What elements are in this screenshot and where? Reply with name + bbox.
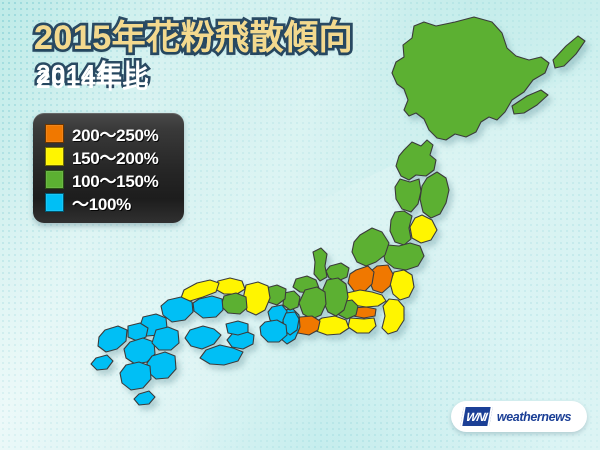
weathernews-wordmark: weathernews <box>497 410 571 424</box>
page-subtitle-fill: 2014年比 <box>36 66 149 93</box>
legend-row-yellow: 150〜200% <box>45 145 174 168</box>
prefecture-region: 宮城 150〜200% <box>410 215 437 243</box>
prefecture-region: 秋田 100〜150% <box>395 179 421 212</box>
wni-mark-icon: WNI <box>460 407 492 426</box>
prefecture-region: 岩手 100〜150% <box>420 172 449 218</box>
pollen-forecast-infographic: 北海道 100〜150%青森 100〜150%岩手 100〜150%秋田 100… <box>0 0 600 450</box>
prefecture-region: 長野 100〜150% <box>323 278 348 316</box>
prefecture-region: 千葉 150〜200% <box>382 299 404 334</box>
legend-swatch-green <box>45 170 64 189</box>
legend-panel: 200〜250%150〜200%100〜150%〜100% <box>33 113 184 223</box>
legend-row-green: 100〜150% <box>45 168 174 191</box>
prefecture-region: 群馬 200〜250% <box>348 266 374 292</box>
prefecture-region: 青森 100〜150% <box>396 140 436 180</box>
legend-swatch-cyan <box>45 193 64 212</box>
prefecture-region: 新潟 100〜150% <box>352 228 389 266</box>
prefecture-region: 兵庫 150〜200% <box>243 282 270 315</box>
prefecture-region: 北海道 100〜150% <box>392 17 585 140</box>
prefecture-region: 宮崎 〜100% <box>147 352 176 379</box>
page-title-fill: 2015年花粉飛散傾向 <box>34 21 353 56</box>
prefecture-region: 大分 〜100% <box>152 327 179 350</box>
legend-row-orange: 200〜250% <box>45 122 174 145</box>
prefecture-region: 鳥取 150〜200% <box>215 278 245 294</box>
legend-label: 〜100% <box>72 190 131 215</box>
weathernews-logo: WNI weathernews <box>451 401 587 432</box>
legend-swatch-yellow <box>45 147 64 166</box>
prefecture-region: 神奈川 150〜200% <box>348 318 376 333</box>
prefecture-region: 和歌山 〜100% <box>260 320 287 342</box>
legend-row-cyan: 〜100% <box>45 191 174 214</box>
prefecture-region: 茨城 150〜200% <box>390 270 414 300</box>
legend-label: 200〜250% <box>72 121 158 146</box>
prefecture-region: 香川 〜100% <box>226 321 248 335</box>
legend-label: 150〜200% <box>72 144 158 169</box>
prefecture-region: 広島 〜100% <box>193 296 223 318</box>
prefecture-region: 長崎 〜100% <box>91 326 127 370</box>
prefecture-region: 岡山 100〜150% <box>221 293 247 314</box>
legend-label: 100〜150% <box>72 167 158 192</box>
legend-swatch-orange <box>45 124 64 143</box>
title-block: 2015年花粉飛散傾向 2015年花粉飛散傾向 2014年比 2014年比 <box>34 21 353 87</box>
prefecture-region: 山形 100〜150% <box>390 211 412 245</box>
prefecture-region: 鹿児島 〜100% <box>120 362 155 405</box>
prefecture-region: 愛媛 〜100% <box>185 326 221 349</box>
prefecture-region: 石川 100〜150% <box>313 248 327 281</box>
